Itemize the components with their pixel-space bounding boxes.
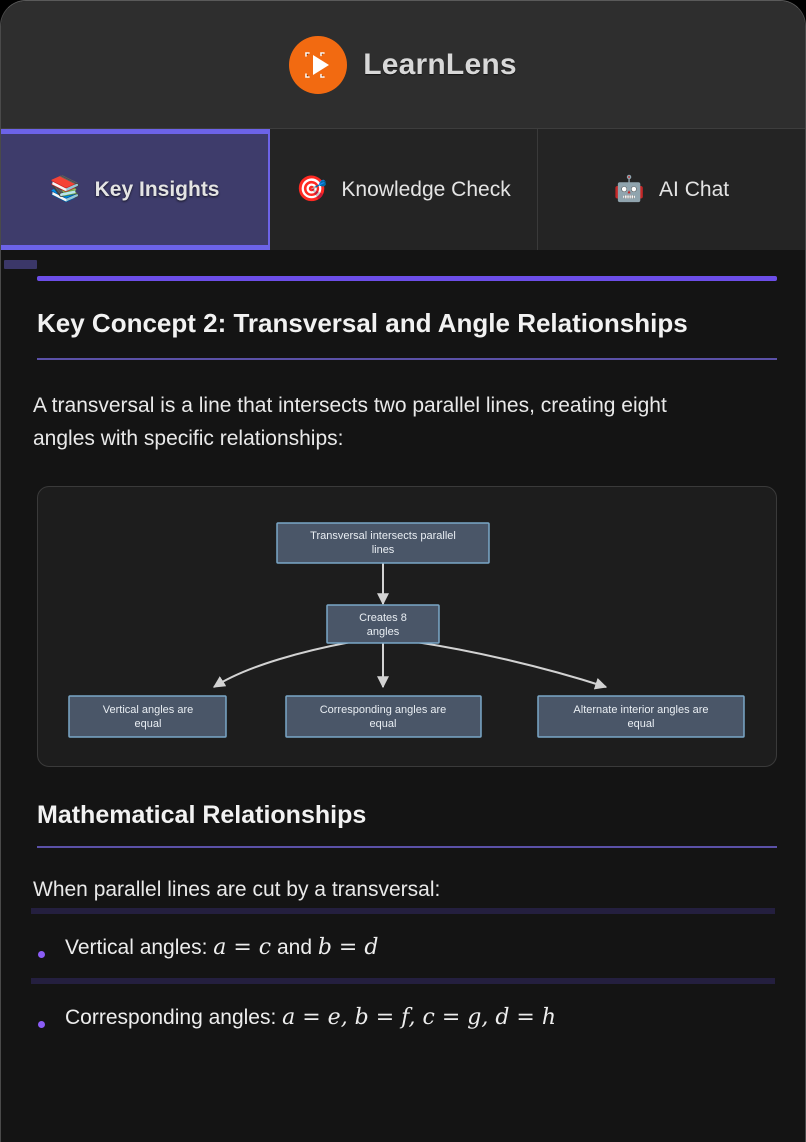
list-item: Corresponding angles: a = e, b = f, c = … [31, 978, 775, 1049]
flow-node-n5-line2: equal [628, 718, 655, 730]
list-item: Vertical angles: a = c and b = d [31, 908, 775, 979]
flow-node-n2-line2: angles [367, 626, 400, 638]
math-item-0-prefix: Vertical angles: [65, 936, 213, 959]
flow-node-n4-line2: equal [370, 718, 397, 730]
target-icon: 🎯 [296, 177, 327, 202]
math-item-0-expr-1: a = c [213, 935, 271, 960]
tab-knowledge-check-label: Knowledge Check [341, 177, 510, 203]
flow-node-n5-line1: Alternate interior angles are [573, 704, 708, 716]
tab-knowledge-check[interactable]: 🎯 Knowledge Check [270, 129, 538, 250]
math-item-0-mid: and [271, 936, 318, 959]
math-heading-underline [37, 846, 777, 848]
tab-bar: 📚 Key Insights 🎯 Knowledge Check 🤖 AI Ch… [1, 128, 805, 250]
intro-paragraph: A transversal is a line that intersects … [31, 390, 731, 455]
play-lens-icon [289, 36, 347, 94]
brand: LearnLens [289, 36, 517, 94]
math-item-1-expr-1: a = e, b = f, c = g, d = h [282, 1005, 556, 1030]
tab-key-insights-label: Key Insights [95, 177, 220, 203]
scrolled-content-stub [4, 260, 37, 269]
books-icon: 📚 [49, 177, 80, 202]
flowchart-diagram: Transversal intersects parallel lines Cr… [37, 486, 777, 767]
flow-node-n3-line2: equal [135, 718, 162, 730]
edge-n2-n3 [214, 642, 351, 687]
math-item-1-prefix: Corresponding angles: [65, 1006, 282, 1029]
flow-node-n1-line2: lines [372, 544, 395, 556]
flow-node-n2-line1: Creates 8 [359, 612, 407, 624]
page-title: Key Concept 2: Transversal and Angle Rel… [31, 304, 775, 342]
edge-n2-n5 [416, 642, 606, 687]
flow-node-n4-line1: Corresponding angles are [320, 704, 447, 716]
app-window: LearnLens 📚 Key Insights 🎯 Knowledge Che… [0, 0, 806, 1142]
brand-name: LearnLens [363, 48, 517, 82]
flow-node-n5: Alternate interior angles are equal [538, 696, 744, 737]
robot-icon: 🤖 [614, 177, 645, 202]
content-panel[interactable]: Key Concept 2: Transversal and Angle Rel… [1, 250, 805, 1142]
flow-node-n4: Corresponding angles are equal [286, 696, 481, 737]
math-heading: Mathematical Relationships [31, 801, 775, 830]
math-intro: When parallel lines are cut by a transve… [31, 878, 775, 902]
math-list: Vertical angles: a = c and b = d Corresp… [31, 908, 775, 1049]
tab-ai-chat[interactable]: 🤖 AI Chat [538, 129, 805, 250]
flow-node-n3: Vertical angles are equal [69, 696, 226, 737]
heading-underline [37, 358, 777, 360]
tab-ai-chat-label: AI Chat [659, 177, 729, 203]
tab-key-insights[interactable]: 📚 Key Insights [1, 129, 270, 250]
section-top-rule [37, 276, 777, 281]
math-item-0-expr-2: b = d [318, 935, 379, 960]
flow-node-n1-line1: Transversal intersects parallel [310, 530, 456, 542]
app-header: LearnLens [1, 1, 805, 128]
flow-node-n3-line1: Vertical angles are [103, 704, 194, 716]
flow-node-n1: Transversal intersects parallel lines [277, 523, 489, 563]
flow-node-n2: Creates 8 angles [327, 605, 439, 643]
